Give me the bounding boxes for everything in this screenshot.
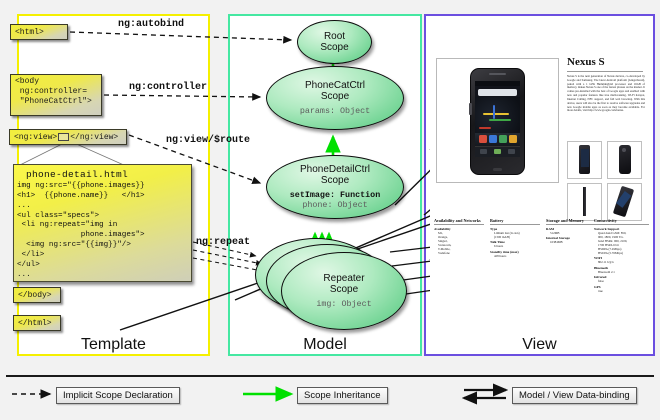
product-title: Nexus S: [567, 56, 605, 68]
wallpaper-line-blue: [493, 105, 495, 119]
spec-column-storage: Storage and Memory RAM 512MB Internal St…: [546, 218, 596, 244]
legend-item-model-view-data-binding: Model / View Data-binding: [512, 387, 637, 404]
nav-back-icon: [480, 149, 487, 154]
label-ng-repeat: ng:repeat: [196, 237, 250, 248]
phone-search-widget-icon: [478, 89, 517, 96]
thumb-angle-screen: [616, 191, 631, 208]
legend-divider: [6, 375, 654, 377]
tag-ngview: <ng:view></ng:view>: [9, 129, 127, 145]
nav-menu-icon: [508, 149, 515, 154]
title-divider: [567, 71, 643, 72]
thumb-phone-edge-icon: [583, 187, 586, 216]
scope-repeater-stack: Repeater Scope img: Object: [255, 238, 405, 330]
spec-column-connectivity: Connectivity Network Support Quad-band G…: [594, 218, 649, 293]
spec-value-bluetooth: Bluetooth 2.1: [594, 270, 649, 274]
product-main-image: [436, 58, 559, 183]
ngview-close-text: </ng:view>: [70, 133, 118, 142]
spec-value-internal-storage: 16384MB: [546, 240, 596, 244]
label-ng-autobind: ng:autobind: [118, 19, 184, 30]
spec-value-infrared: false: [594, 279, 649, 283]
spec-header-storage: Storage and Memory: [546, 218, 596, 225]
spec-value-network-support: Quad-band GSM: 850,900, 1800, 1900 Tri-b…: [594, 231, 649, 255]
phone-statusbar: [475, 81, 520, 86]
spec-header-connectivity: Connectivity: [594, 218, 649, 225]
legend-item-scope-inheritance: Scope Inheritance: [297, 387, 388, 404]
spec-value-gps: true: [594, 289, 649, 293]
wallpaper-line-red: [479, 127, 491, 129]
spec-table: Availability and Networks Availability M…: [434, 218, 646, 304]
tag-body-open: <body ng:controller= "PhoneCatCtrl">: [10, 74, 102, 116]
phone-speaker-icon: [489, 73, 506, 75]
scope-repeater-prop-img: img: Object: [316, 299, 371, 309]
scope-phonedetailctrl-title-2: Scope: [321, 175, 349, 186]
spec-header-battery: Battery: [490, 218, 540, 225]
wire-autobind: [70, 32, 291, 40]
legend-item-implicit-scope-declaration: Implicit Scope Declaration: [56, 387, 180, 404]
diagram-canvas: <html> <body ng:controller= "PhoneCatCtr…: [0, 0, 660, 420]
thumb-camera-icon: [622, 148, 626, 152]
spec-column-battery: Battery Type Lithium Ion (Li-Ion)(1500 m…: [490, 218, 540, 258]
spec-value-ram: 512MB: [546, 231, 596, 235]
code-callout-filename: phone-detail.html: [14, 165, 191, 182]
scope-phonecatctrl-prop-params: params: Object: [300, 106, 370, 116]
app-icon-3: [499, 135, 507, 143]
scope-repeater-title-1: Repeater: [323, 273, 364, 284]
product-description: Nexus S is the next generation of Nexus …: [567, 75, 645, 113]
scope-phonecatctrl-title-1: PhoneCatCtrl: [305, 80, 365, 91]
spec-value-availability: M1,Orange,Singtel,Swisscom,T-Mobile,Voda…: [434, 231, 484, 255]
scope-repeater-title-2: Scope: [330, 284, 358, 295]
spec-value-talk-time: 6 hours: [490, 244, 540, 248]
scope-phonedetailctrl-prop-phone: phone: Object: [302, 200, 367, 210]
thumbnail-phone-angle[interactable]: [607, 183, 642, 221]
thumbnail-phone-side[interactable]: [567, 183, 602, 221]
code-callout-phone-detail: phone-detail.html img ng:src="{{phone.im…: [13, 164, 192, 282]
spec-column-availability: Availability and Networks Availability M…: [434, 218, 484, 255]
wallpaper-line-yellow: [483, 113, 509, 115]
spec-value-standby: 428 hours: [490, 254, 540, 258]
thumb-phone-screen: [581, 149, 589, 167]
scope-root-title-1: Root: [324, 31, 345, 42]
spec-value-battery-type: Lithium Ion (Li-Ion)(1500 mAH): [490, 231, 540, 239]
spec-header-availability: Availability and Networks: [434, 218, 484, 225]
phone-screen: [475, 81, 520, 157]
scope-root: Root Scope: [297, 20, 372, 64]
panel-label-template: Template: [17, 336, 210, 354]
scope-phonecatctrl-title-2: Scope: [321, 91, 349, 102]
scope-phonedetailctrl-prop-setimage: setImage: Function: [290, 190, 380, 200]
wallpaper-line-green: [489, 119, 511, 121]
wire-controller: [104, 95, 260, 97]
app-icon-4: [509, 135, 517, 143]
phone-illustration: [470, 68, 525, 175]
scope-repeater-front: Repeater Scope img: Object: [281, 252, 407, 330]
app-icon-1: [479, 135, 487, 143]
scope-phonedetailctrl: PhoneDetailCtrl Scope setImage: Function…: [266, 155, 404, 219]
ngview-open-text: <ng:view>: [14, 133, 57, 142]
view-page-mockup: Nexus S Nexus S is the next generation o…: [430, 20, 649, 330]
phone-side-button-icon: [469, 103, 472, 115]
phone-home-button-icon: [493, 168, 502, 171]
thumb-phone-body-icon: [579, 145, 590, 174]
callout-leader: [18, 142, 126, 166]
thumbnail-phone-back[interactable]: [607, 141, 642, 179]
nav-home-icon: [494, 149, 501, 154]
thumb-phone-back-icon: [619, 145, 631, 174]
scope-root-title-2: Scope: [320, 42, 348, 53]
phone-navbar: [475, 146, 520, 157]
legend-glyph-databinding: [464, 390, 506, 398]
panel-label-view: View: [424, 336, 655, 354]
thumb-phone-angle-icon: [613, 186, 634, 218]
viewport-marker-icon: [58, 133, 69, 141]
spec-value-wifi: 802.11 b/g/n: [594, 260, 649, 264]
code-callout-source: img ng:src="{{phone.images}} <h1> {{phon…: [14, 182, 191, 281]
phone-app-dock: [475, 133, 520, 146]
label-ng-view-route: ng:view/$route: [166, 135, 250, 146]
tag-body-close: </body>: [13, 287, 61, 303]
app-icon-2: [489, 135, 497, 143]
label-ng-controller: ng:controller: [129, 82, 207, 93]
scope-phonedetailctrl-title-1: PhoneDetailCtrl: [300, 164, 370, 175]
thumbnail-phone-front[interactable]: [567, 141, 602, 179]
tag-html-open: <html>: [10, 24, 68, 40]
scope-phonecatctrl: PhoneCatCtrl Scope params: Object: [266, 66, 404, 130]
tag-html-close: </html>: [13, 315, 61, 331]
panel-label-model: Model: [228, 336, 422, 354]
